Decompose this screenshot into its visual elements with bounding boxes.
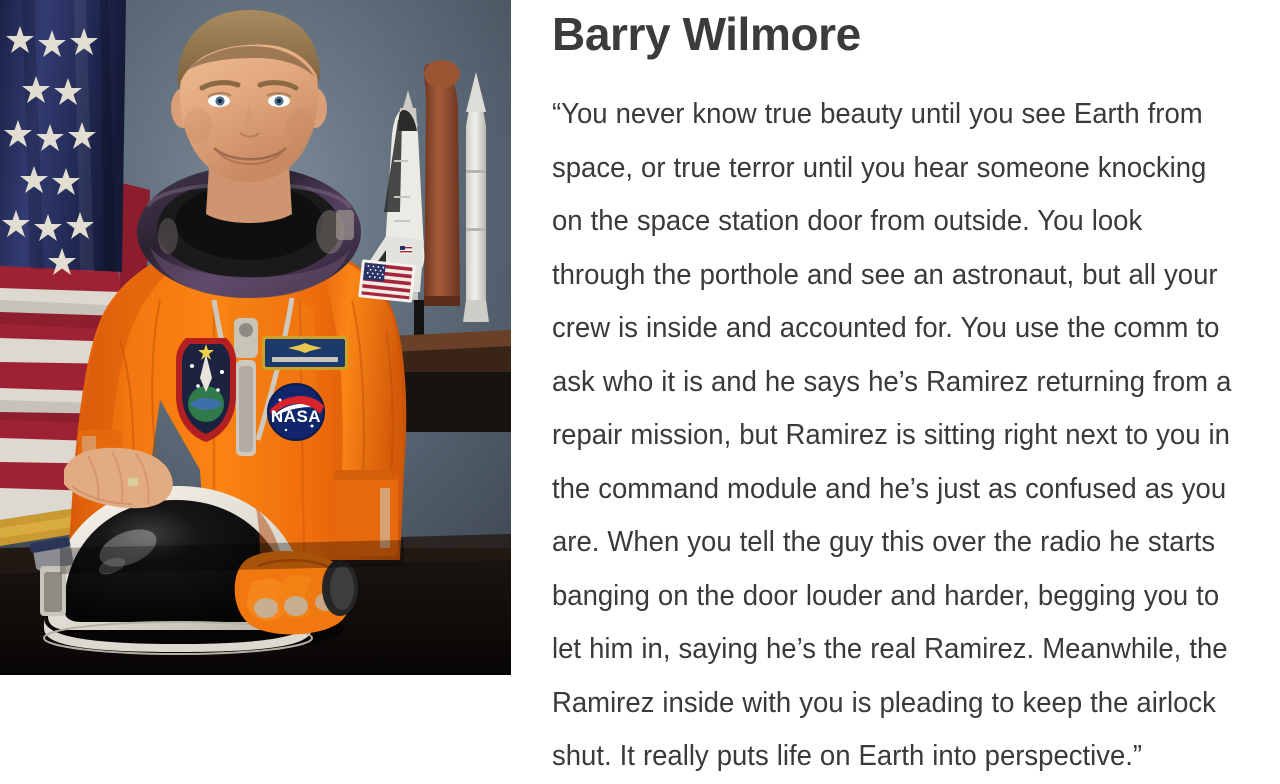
us-flag-shoulder-patch: [358, 259, 416, 302]
nasa-patch: NASA: [268, 384, 324, 440]
page-title: Barry Wilmore: [552, 6, 861, 62]
profile-text-column: Barry Wilmore “You never know true beaut…: [552, 0, 1266, 781]
astronaut-portrait-photo: NASA: [0, 0, 511, 675]
nametag-patch: [262, 336, 348, 370]
quote-text: “You never know true beauty until you se…: [552, 88, 1243, 784]
svg-text:NASA: NASA: [271, 407, 321, 426]
profile-quote-page: NASA: [0, 0, 1280, 781]
portrait-illustration: NASA: [0, 0, 511, 675]
